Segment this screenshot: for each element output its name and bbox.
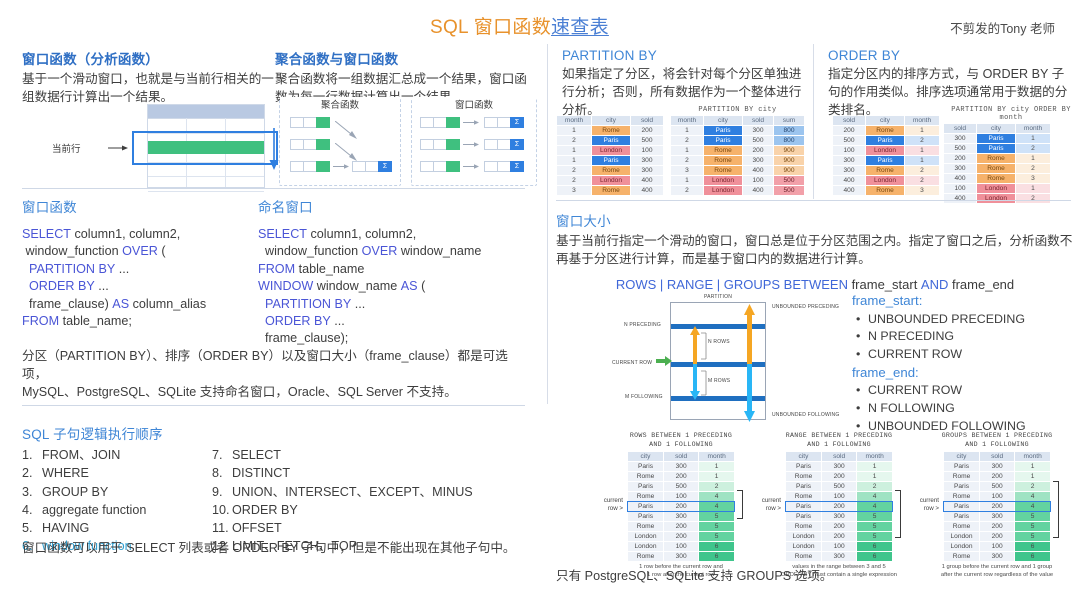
code-token: frame_clause) [22, 297, 112, 311]
exec-order-number: 7. [212, 446, 232, 464]
table-cell: 400 [833, 176, 865, 185]
table-cell: London [628, 542, 663, 551]
table-cell: Rome [628, 492, 663, 501]
title-part-window-fn: 窗口函数 [474, 17, 551, 38]
table-cell: 2 [557, 176, 591, 185]
code-token [22, 279, 29, 293]
syntax-named-window-code: SELECT column1, column2, window_function… [258, 226, 481, 348]
order-by-heading: ORDER BY [828, 48, 1076, 63]
table-row: 1Rome200900 [671, 146, 804, 155]
window-function-caption: 窗口函数 [412, 97, 536, 111]
code-token: FROM [22, 314, 59, 328]
table-cell: 5 [857, 512, 892, 521]
table-cell: Paris [628, 502, 663, 511]
current-row-pointer-label: currentrow > [741, 497, 781, 513]
table-cell: 6 [1015, 542, 1050, 551]
table-cell: 500 [822, 482, 856, 491]
table-cell: Paris [944, 512, 979, 521]
table-cell: 5 [1015, 512, 1050, 521]
header: SQL 窗口函数速查表 不剪发的Tony 老师 [0, 6, 1079, 36]
syntax-notes: 分区（PARTITION BY）、排序（ORDER BY）以及窗口大小（fram… [22, 348, 532, 402]
window-size-body: 基于当前行指定一个滑动的窗口，窗口总是位于分区范围之内。指定了窗口之后，分析函数… [556, 233, 1074, 269]
table-cell: London [704, 186, 742, 195]
table-cell: London [866, 176, 904, 185]
table-cell: 400 [631, 186, 663, 195]
table-cell: 100 [980, 542, 1014, 551]
table-cell: 100 [822, 542, 856, 551]
order-by-table-right: soldcitymonth300Paris1500Paris2200Rome13… [943, 123, 1051, 204]
table-cell: 1 [905, 146, 939, 155]
table-row: 300Paris1 [833, 156, 939, 165]
table-cell: Rome [866, 186, 904, 195]
table-header-row: citysoldmonth [628, 452, 734, 461]
n-rows-bracket-icon [700, 332, 708, 360]
table-cell: 100 [743, 176, 773, 185]
code-token [258, 297, 265, 311]
table-cell: 2 [557, 136, 591, 145]
table-row: Rome2001 [944, 472, 1050, 481]
table-row: 2Rome300 [557, 166, 663, 175]
table-row: 1London100500 [671, 176, 804, 185]
exec-order-item: 1.FROM、JOIN [22, 446, 212, 464]
table-cell: 300 [822, 462, 856, 471]
table-row: 2Paris500 [557, 136, 663, 145]
cell-green [446, 161, 460, 172]
exec-order-label: OFFSET [232, 521, 282, 535]
code-token: PARTITION BY [265, 297, 351, 311]
unbounded-preceding-arrow-icon [744, 304, 755, 366]
column-header: sold [833, 116, 865, 125]
table-cell: 200 [822, 532, 856, 541]
table-cell: Paris [704, 126, 742, 135]
column-header: month [699, 452, 734, 461]
frame-example-title: ROWS BETWEEN 1 PRECEDINGAND 1 FOLLOWING [605, 432, 757, 449]
table-cell: 1 [905, 156, 939, 165]
cell [420, 117, 433, 128]
table-cell: 300 [980, 552, 1014, 561]
syntax-named-window-block: 命名窗口 SELECT column1, column2, window_fun… [258, 196, 481, 348]
exec-order-number: 3. [22, 483, 42, 501]
table-cell: 200 [980, 502, 1014, 511]
table-cell: 200 [664, 502, 698, 511]
partition-by-table-left-wrap: monthcitysold1Rome2002Paris5001London100… [556, 115, 664, 196]
table-cell: 300 [631, 156, 663, 165]
table-cell: Paris [944, 482, 979, 491]
code-token: table_name; [59, 314, 132, 328]
table-cell: London [592, 146, 630, 155]
table-cell: London [786, 532, 821, 541]
table-cell: Rome [592, 126, 630, 135]
table-cell: 100 [664, 542, 698, 551]
exec-order-item: 7.SELECT [212, 446, 522, 464]
table-cell: Rome [866, 166, 904, 175]
code-token: frame_end [948, 277, 1014, 292]
order-by-table-left-wrap: soldcitymonth200Rome1500Paris2100London1… [832, 115, 940, 196]
win-output-row: Σ [484, 161, 524, 172]
table-cell: 2 [1016, 194, 1050, 203]
column-header: sold [822, 452, 856, 461]
exec-order-label: SELECT [232, 448, 281, 462]
table-cell: 4 [1015, 502, 1050, 511]
table-cell: 200 [631, 126, 663, 135]
frame-bound-item: CURRENT ROW [868, 382, 1062, 400]
column-header: sold [743, 116, 773, 125]
code-token: column_alias [129, 297, 206, 311]
table-cell: Rome [628, 552, 663, 561]
table-row: 300Rome2 [833, 166, 939, 175]
frame-bound-item: UNBOUNDED PRECEDING [868, 311, 1062, 329]
table-cell: 500 [743, 136, 773, 145]
code-token: frame_clause); [258, 331, 348, 345]
frame-example-title: GROUPS BETWEEN 1 PRECEDINGAND 1 FOLLOWIN… [921, 432, 1073, 449]
table-row: 400Rome3 [944, 174, 1050, 183]
table-row: 500Paris2 [944, 144, 1050, 153]
table-cell: 300 [664, 512, 698, 521]
exec-order-item: 11.OFFSET [212, 519, 522, 537]
table-cell: 100 [944, 184, 976, 193]
title-part-sql: SQL [430, 17, 474, 38]
table-cell: Rome [786, 522, 821, 531]
cell [352, 161, 365, 172]
table-cell: Paris [592, 156, 630, 165]
table-cell: 2 [857, 482, 892, 491]
table-cell: 400 [944, 174, 976, 183]
code-token: ORDER BY [265, 314, 331, 328]
table-cell: 100 [822, 492, 856, 501]
cell [290, 139, 303, 150]
window-size-heading: 窗口大小 [556, 210, 1074, 230]
grid-row [148, 177, 264, 192]
code-token: window_name [313, 279, 401, 293]
cell [497, 117, 510, 128]
table-cell: 900 [774, 166, 804, 175]
table-cell: 500 [631, 136, 663, 145]
cheatsheet-page: SQL 窗口函数速查表 不剪发的Tony 老师 窗口函数（分析函数） 基于一个滑… [0, 0, 1079, 607]
exec-order-number: 4. [22, 501, 42, 519]
table-cell: 6 [699, 552, 734, 561]
table-cell: 1 [857, 472, 892, 481]
table-row: Rome3006 [944, 552, 1050, 561]
window-size-block: 窗口大小 基于当前行指定一个滑动的窗口，窗口总是位于分区范围之内。指定了窗口之后… [556, 210, 1074, 292]
table-cell: 400 [944, 194, 976, 203]
table-cell: 1 [557, 146, 591, 155]
table-cell: 100 [631, 146, 663, 155]
column-header: sold [631, 116, 663, 125]
table-cell: 300 [944, 134, 976, 143]
table-cell: Rome [786, 552, 821, 561]
table-cell: 1 [1016, 184, 1050, 193]
table-cell: 400 [743, 186, 773, 195]
cell [433, 117, 446, 128]
column-header: month [1015, 452, 1050, 461]
frame-bound-item: CURRENT ROW [868, 346, 1062, 364]
column-header: city [628, 452, 663, 461]
table-row: Paris5002 [944, 482, 1050, 491]
table-cell: Paris [628, 462, 663, 471]
table-cell: 5 [699, 512, 734, 521]
table-row: Paris5002 [628, 482, 734, 491]
exec-order-item: 3.GROUP BY [22, 483, 212, 501]
win-input-row [420, 117, 460, 128]
right-footer-note-wrap: 只有 PostgreSQL、SQLite 支持 GROUPS 选项。 [556, 568, 832, 586]
current-row-pointer-label: currentrow > [899, 497, 939, 513]
exec-order-label: DISTINCT [232, 466, 290, 480]
table-cell: 1 [671, 146, 703, 155]
table-cell: 300 [944, 164, 976, 173]
cell-green [316, 139, 330, 150]
table-cell: Rome [704, 156, 742, 165]
table-cell: 200 [822, 472, 856, 481]
frame-example-title: RANGE BETWEEN 1 PRECEDINGAND 1 FOLLOWING [763, 432, 915, 449]
syntax-note-line-2: MySQL、PostgreSQL、SQLite 支持命名窗口，Oracle、SQ… [22, 384, 532, 402]
table-row: Paris5002 [786, 482, 892, 491]
window-frame-box [132, 131, 278, 165]
cell [303, 139, 316, 150]
label-n-preceding: N PRECEDING [624, 322, 661, 328]
table-row: 200Rome1 [833, 126, 939, 135]
column-header: city [592, 116, 630, 125]
table-cell: Rome [866, 126, 904, 135]
agg-vs-window-heading: 聚合函数与窗口函数 [275, 48, 537, 68]
cell-sigma: Σ [510, 117, 524, 128]
table-cell: 200 [664, 532, 698, 541]
table-cell: 2 [671, 136, 703, 145]
code-token: column1, column2, [307, 227, 416, 241]
table-cell: 500 [774, 186, 804, 195]
agg-vs-window-figure: 聚合函数 Σ 窗口函数 Σ Σ Σ [279, 98, 537, 190]
win-output-row: Σ [484, 117, 524, 128]
table-cell: 2 [699, 482, 734, 491]
table-row: 400London2 [944, 194, 1050, 203]
frame-start-items: UNBOUNDED PRECEDINGN PRECEDINGCURRENT RO… [852, 311, 1062, 364]
table-cell: 5 [699, 532, 734, 541]
table-cell: Paris [628, 482, 663, 491]
exec-order-label: GROUP BY [42, 485, 108, 499]
table-row: Paris3005 [944, 512, 1050, 521]
frame-bounds-list: frame_start: UNBOUNDED PRECEDINGN PRECED… [852, 292, 1062, 435]
table-cell: Rome [977, 174, 1015, 183]
agg-input-row [290, 161, 330, 172]
right-arrow-icon [463, 162, 479, 171]
title-part-cheatsheet: 速查表 [551, 17, 609, 38]
table-row: Rome1004 [944, 492, 1050, 501]
table-row: 300Paris1 [944, 134, 1050, 143]
table-cell: 300 [833, 166, 865, 175]
table-cell: 6 [699, 542, 734, 551]
table-cell: 6 [857, 552, 892, 561]
code-token: OVER [362, 244, 398, 258]
column-header: city [786, 452, 821, 461]
win-input-row [420, 139, 460, 150]
table-cell: 200 [980, 522, 1014, 531]
exec-order-item: 9.UNION、INTERSECT、EXCEPT、MINUS [212, 483, 522, 501]
cell [484, 117, 497, 128]
table-cell: 2 [1016, 144, 1050, 153]
code-token: AND [921, 277, 948, 292]
agg-input-row [290, 139, 330, 150]
cell-sigma: Σ [510, 161, 524, 172]
table-cell: Paris [944, 502, 979, 511]
code-token: AS [401, 279, 418, 293]
exec-order-heading: SQL 子句逻辑执行顺序 [22, 423, 522, 443]
code-token: PARTITION BY [29, 262, 115, 276]
code-token: ... [115, 262, 129, 276]
order-by-table-left: soldcitymonth200Rome1500Paris2100London1… [832, 115, 940, 196]
m-rows-bracket-icon [700, 370, 708, 396]
table-row: Rome2005 [628, 522, 734, 531]
label-current-row: CURRENT ROW [612, 360, 652, 366]
table-row: Rome2001 [786, 472, 892, 481]
table-cell: 1 [1015, 472, 1050, 481]
table-cell: 5 [857, 532, 892, 541]
table-cell: 2 [671, 186, 703, 195]
cell [290, 117, 303, 128]
table-header-row: monthcitysoldsum [671, 116, 804, 125]
table-cell: 300 [833, 156, 865, 165]
column-header: sold [664, 452, 698, 461]
table-cell: 200 [822, 522, 856, 531]
code-token: SELECT [258, 227, 307, 241]
author-credit: 不剪发的Tony 老师 [950, 18, 1055, 37]
table-row: London1006 [944, 542, 1050, 551]
table-header-row: monthcitysold [557, 116, 663, 125]
frame-example-table: citysoldmonthParis3001Rome2001Paris5002R… [943, 451, 1051, 562]
left-footer-note: 窗口函数可以用于 SELECT 列表或者 ORDER BY 子句中，但是不能出现… [22, 540, 532, 558]
table-cell: 800 [774, 136, 804, 145]
table-cell: 200 [944, 154, 976, 163]
table-row: London1006 [628, 542, 734, 551]
syntax-window-block: 窗口函数 SELECT column1, column2, window_fun… [22, 196, 206, 330]
exec-order-number: 1. [22, 446, 42, 464]
table-cell: 2 [557, 166, 591, 175]
table-cell: Rome [592, 166, 630, 175]
table-cell: Rome [704, 166, 742, 175]
table-cell: Paris [786, 462, 821, 471]
table-cell: Paris [786, 502, 821, 511]
table-cell: Paris [786, 482, 821, 491]
divider-1 [22, 188, 525, 189]
table-cell: 1 [699, 472, 734, 481]
table-cell: 200 [664, 522, 698, 531]
table-row: Rome1004 [786, 492, 892, 501]
table-row: Rome2005 [944, 522, 1050, 531]
code-token: ROWS | RANGE | GROUPS BETWEEN [616, 277, 848, 292]
table-cell: Paris [592, 136, 630, 145]
frame-example-table: citysoldmonthParis3001Rome2001Paris5002R… [627, 451, 735, 562]
label-m-following: M FOLLOWING [625, 394, 663, 400]
table-cell: 1 [857, 462, 892, 471]
table-cell: 2 [905, 166, 939, 175]
frame-example-table-wrap: citysoldmonthParis3001Rome2001Paris5002R… [785, 451, 893, 562]
code-token [258, 314, 265, 328]
table-header-row: soldcitymonth [944, 124, 1050, 133]
code-token: frame_start [848, 277, 921, 292]
table-row: Rome3006 [786, 552, 892, 561]
current-row-label: 当前行 [52, 141, 81, 155]
table-row: Rome2005 [786, 522, 892, 531]
table-row: 200Rome1 [944, 154, 1050, 163]
table-cell: Paris [866, 156, 904, 165]
table-cell: Paris [628, 512, 663, 521]
table-cell: 4 [699, 492, 734, 501]
m-rows-down-arrow-icon [690, 364, 700, 400]
syntax-window-heading: 窗口函数 [22, 196, 206, 216]
frame-end-items: CURRENT ROWN FOLLOWINGUNBOUNDED FOLLOWIN… [852, 382, 1062, 435]
table-cell: 500 [944, 144, 976, 153]
table-row: London1006 [786, 542, 892, 551]
diagonal-arrow-icon [335, 121, 357, 139]
table-row: 1Paris300 [557, 156, 663, 165]
table-cell: London [786, 542, 821, 551]
table-cell: 300 [980, 512, 1014, 521]
table-row: London2005 [628, 532, 734, 541]
code-token: WINDOW [258, 279, 313, 293]
cell [420, 161, 433, 172]
code-token: SELECT [22, 227, 71, 241]
table-cell: Rome [977, 164, 1015, 173]
order-by-table-right-wrap: PARTITION BY city ORDER BY month soldcit… [943, 106, 1079, 204]
syntax-window-code: SELECT column1, column2, window_function… [22, 226, 206, 330]
code-token: ( [418, 279, 426, 293]
table-cell: 1 [671, 176, 703, 185]
table-cell: Rome [628, 522, 663, 531]
table-cell: London [944, 542, 979, 551]
cell [497, 161, 510, 172]
sliding-window-figure: 当前行 [22, 100, 277, 192]
table-cell: 300 [664, 552, 698, 561]
table-cell: 2 [1015, 482, 1050, 491]
frame-start-label: frame_start: [852, 292, 1062, 311]
table-cell: 6 [857, 542, 892, 551]
table-row: Paris3001 [944, 462, 1050, 471]
table-cell: Paris [944, 462, 979, 471]
exec-order-item: 5.HAVING [22, 519, 212, 537]
label-unbounded-preceding: UNBOUNDED PRECEDING [772, 304, 839, 310]
table-row: Paris3005 [628, 512, 734, 521]
frame-range-bracket [1053, 481, 1059, 538]
diagram-partition-label: PARTITION [704, 294, 732, 300]
table-cell: 100 [980, 492, 1014, 501]
table-cell: 300 [743, 126, 773, 135]
table-row: London2005 [786, 532, 892, 541]
table-cell: 5 [1015, 532, 1050, 541]
exec-order-block: SQL 子句逻辑执行顺序 1.FROM、JOIN2.WHERE3.GROUP B… [22, 423, 522, 556]
unbounded-following-arrow-icon [744, 364, 755, 422]
frame-example-table-wrap: citysoldmonthParis3001Rome2001Paris5002R… [943, 451, 1051, 562]
table-cell: 4 [1015, 492, 1050, 501]
table-cell: 300 [822, 512, 856, 521]
window-function-heading: 窗口函数（分析函数） [22, 48, 277, 68]
code-token [22, 262, 29, 276]
frame-example-tables: ROWS BETWEEN 1 PRECEDINGAND 1 FOLLOWINGc… [605, 432, 1079, 552]
table-row: 2London400500 [671, 186, 804, 195]
partition-by-right-caption: PARTITION BY city [670, 106, 805, 114]
table-cell: 500 [774, 176, 804, 185]
exec-order-number: 11. [212, 519, 232, 537]
table-cell: 300 [631, 166, 663, 175]
table-cell: 2 [671, 156, 703, 165]
table-cell: Rome [944, 472, 979, 481]
table-cell: Rome [944, 522, 979, 531]
order-by-right-caption: PARTITION BY city ORDER BY month [943, 106, 1079, 122]
current-row-pointer-label: currentrow > [583, 497, 623, 513]
cell [484, 161, 497, 172]
table-row: 400London2 [833, 176, 939, 185]
column-header: month [857, 452, 892, 461]
column-header: month [671, 116, 703, 125]
column-header: month [905, 116, 939, 125]
table-row: 3Rome400 [557, 186, 663, 195]
